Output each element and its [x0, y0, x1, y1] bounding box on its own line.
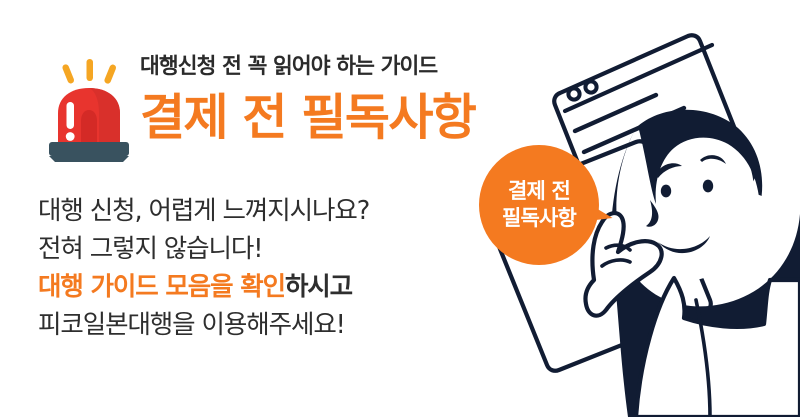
speech-bubble-label: 결제 전 필독사항: [479, 145, 599, 265]
promo-banner: 대행신청 전 꼭 읽어야 하는 가이드 결제 전 필독사항 대행 신청, 어렵게…: [0, 0, 800, 417]
body-line-3: 대행 가이드 모음을 확인하시고: [38, 268, 458, 306]
eyebrow-text: 대행신청 전 꼭 읽어야 하는 가이드: [140, 52, 500, 78]
body-line-2: 전혀 그렇지 않습니다!: [38, 230, 458, 268]
body-copy: 대행 신청, 어렵게 느껴지시나요? 전혀 그렇지 않습니다! 대행 가이드 모…: [38, 192, 458, 344]
text-column: 대행신청 전 꼭 읽어야 하는 가이드 결제 전 필독사항 대행 신청, 어렵게…: [0, 0, 500, 417]
body-line-4: 피코일본대행을 이용해주세요!: [38, 306, 458, 344]
siren-lamp-shadow: [81, 110, 97, 144]
exclamation-mark-icon: [66, 102, 75, 141]
siren-rays-icon: [61, 59, 117, 85]
siren-icon: [36, 52, 142, 162]
siren-base-foot: [49, 156, 129, 162]
headline-row: 대행신청 전 꼭 읽어야 하는 가이드 결제 전 필독사항: [36, 52, 496, 164]
speech-bubble: 결제 전 필독사항: [479, 145, 611, 277]
page-title: 결제 전 필독사항: [140, 78, 500, 142]
siren-base: [49, 142, 129, 156]
body-line-3-tail: 하시고: [285, 272, 352, 302]
headline-text: 대행신청 전 꼭 읽어야 하는 가이드 결제 전 필독사항: [140, 52, 500, 142]
speech-bubble-line-2: 필독사항: [502, 205, 576, 232]
speech-bubble-line-1: 결제 전: [508, 178, 570, 205]
body-line-1: 대행 신청, 어렵게 느껴지시나요?: [38, 192, 458, 230]
body-line-3-accent: 대행 가이드 모음을 확인: [38, 272, 285, 302]
